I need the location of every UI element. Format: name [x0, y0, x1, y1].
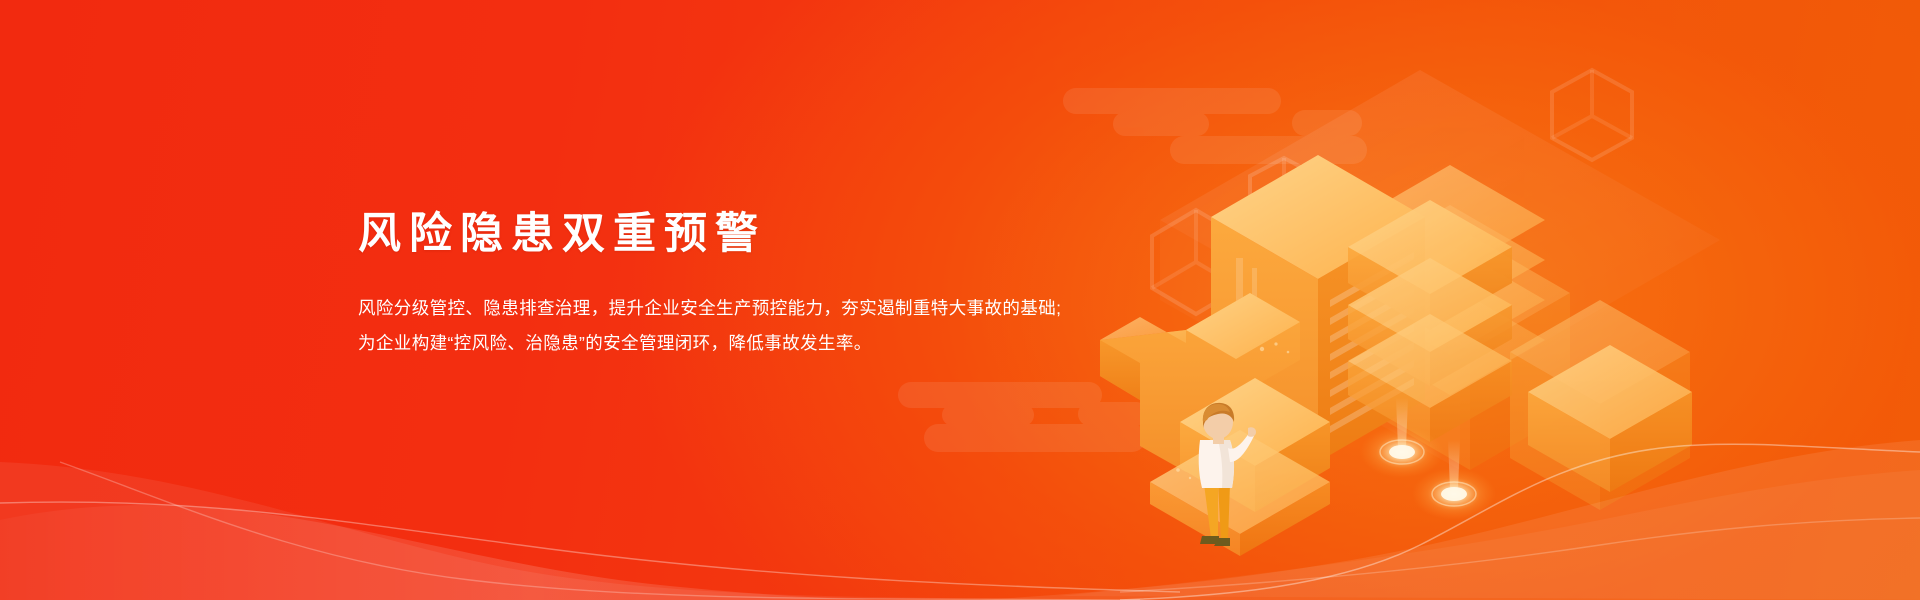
rack-slits — [1330, 252, 1414, 433]
server-tower-back-right — [1510, 300, 1690, 510]
wave-curves-bottom-right — [980, 440, 1920, 600]
cloud-shape-bottom — [898, 382, 1148, 452]
person-pointing — [1178, 398, 1258, 558]
hexagon-outline-large — [1552, 70, 1632, 160]
cube-outline — [1152, 210, 1240, 314]
wave-curves-bottom-left — [0, 462, 1180, 600]
banner-text-block: 风险隐患双重预警 风险分级管控、隐患排查治理，提升企业安全生产预控能力，夯实遏制… — [358, 212, 1078, 361]
glow-marker-left — [1360, 398, 1444, 478]
banner-subtitle: 风险分级管控、隐患排查治理，提升企业安全生产预控能力，夯实遏制重特大事故的基础;… — [358, 291, 1078, 361]
subtitle-line-1: 风险分级管控、隐患排查治理，提升企业安全生产预控能力，夯实遏制重特大事故的基础; — [358, 291, 1078, 326]
page-title: 风险隐患双重预警 — [358, 212, 1078, 257]
server-rack-layers-right — [1355, 165, 1545, 395]
cube-block-right — [1528, 345, 1692, 492]
server-tower-back — [1370, 235, 1570, 470]
glow-marker-right — [1412, 440, 1496, 520]
hexagon-outline-small — [1250, 158, 1318, 232]
server-tower-stacked — [1348, 200, 1512, 442]
subtitle-line-2: 为企业构建“控风险、治隐患”的安全管理闭环，降低事故发生率。 — [358, 326, 1078, 361]
cloud-shape-top — [1063, 88, 1367, 164]
promo-banner: 风险隐患双重预警 风险分级管控、隐患排查治理，提升企业安全生产预控能力，夯实遏制… — [0, 0, 1920, 600]
